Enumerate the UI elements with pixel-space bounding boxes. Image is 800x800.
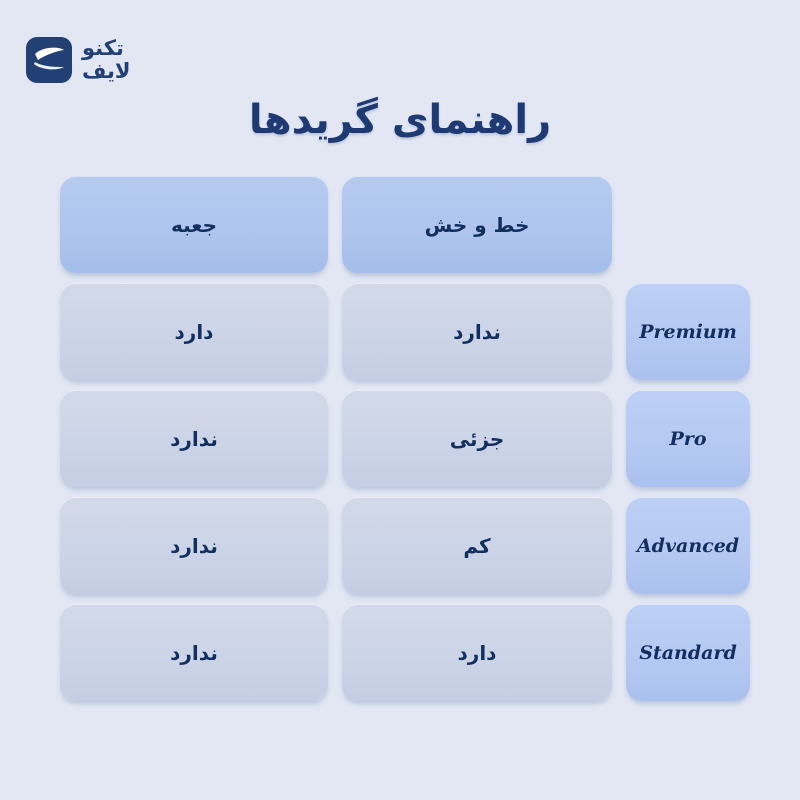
table-row: Premium ندارد دارد xyxy=(64,283,750,380)
header-cell-box: جعبه xyxy=(60,176,328,273)
page-title: راهنمای گریدها xyxy=(0,97,800,143)
brand-name-line2: لایف xyxy=(82,61,131,82)
cell-advanced-scratch: کم xyxy=(342,497,612,594)
cell-standard-box: ندارد xyxy=(60,604,328,701)
grade-label-pro[interactable]: Pro xyxy=(626,390,750,487)
cell-pro-scratch: جزئی xyxy=(342,390,612,487)
table-header-row: خط و خش جعبه xyxy=(64,176,750,273)
header-cell-grade-spacer xyxy=(626,176,750,273)
grade-label-premium[interactable]: Premium xyxy=(626,283,750,380)
table-row: Pro جزئی ندارد xyxy=(64,390,750,487)
grade-comparison-table: خط و خش جعبه Premium ندارد دارد Pro جزئی… xyxy=(64,176,750,701)
brand-name-line1: تکنو xyxy=(82,38,124,59)
header-cell-scratch: خط و خش xyxy=(342,176,612,273)
cell-advanced-box: ندارد xyxy=(60,497,328,594)
cell-premium-box: دارد xyxy=(60,283,328,380)
table-row: Advanced کم ندارد xyxy=(64,497,750,594)
cell-premium-scratch: ندارد xyxy=(342,283,612,380)
table-row: Standard دارد ندارد xyxy=(64,604,750,701)
grade-label-standard[interactable]: Standard xyxy=(626,604,750,701)
cell-pro-box: ندارد xyxy=(60,390,328,487)
cell-standard-scratch: دارد xyxy=(342,604,612,701)
brand-wordmark: تکنو لایف xyxy=(82,38,131,82)
grade-label-advanced[interactable]: Advanced xyxy=(626,497,750,594)
techno-life-swoosh-icon xyxy=(26,37,72,83)
brand-logo: تکنو لایف xyxy=(26,24,176,96)
